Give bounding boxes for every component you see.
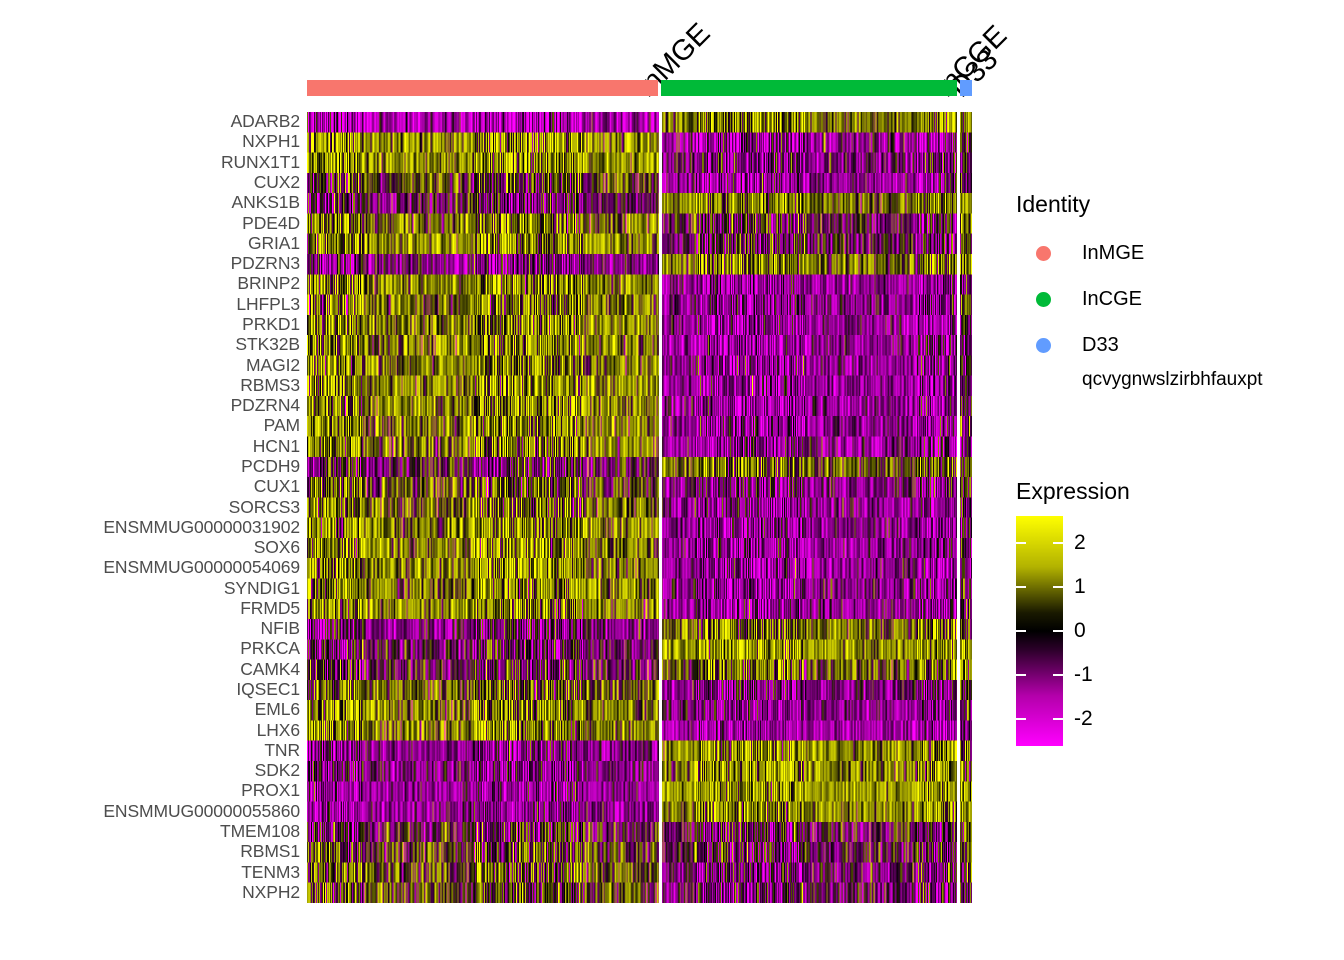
identity-legend-label: InCGE (1082, 289, 1142, 309)
gene-row-label: TENM3 (0, 864, 300, 882)
gene-row-label: NXPH2 (0, 884, 300, 902)
identity-block-incge (661, 80, 957, 96)
gene-row-label: SORCS3 (0, 499, 300, 517)
gene-row-label: LHX6 (0, 722, 300, 740)
gene-row-label: STK32B (0, 336, 300, 354)
colorbar-tick-label: 0 (1074, 620, 1086, 641)
identity-legend-item[interactable]: InMGE (1016, 230, 1263, 276)
gene-row-label: BRINP2 (0, 275, 300, 293)
colorbar-tick-mark (1016, 542, 1026, 544)
gene-row-label: TMEM108 (0, 823, 300, 841)
identity-legend-label: InMGE (1082, 243, 1144, 263)
colorbar-tick-mark (1053, 674, 1063, 676)
gene-row-label: NFIB (0, 620, 300, 638)
gene-row-label: LHFPL3 (0, 296, 300, 314)
gene-row-label: ENSMMUG00000054069 (0, 559, 300, 577)
gene-row-label: TNR (0, 742, 300, 760)
identity-legend-item[interactable]: D33 (1016, 322, 1263, 368)
gene-row-label: ADARB2 (0, 113, 300, 131)
gene-row-label: FRMD5 (0, 600, 300, 618)
group-separator (659, 112, 662, 903)
gene-row-labels: ADARB2NXPH1RUNX1T1CUX2ANKS1BPDE4DGRIA1PD… (0, 112, 300, 903)
gene-row-label: IQSEC1 (0, 681, 300, 699)
expression-colorbar-wrap: 210-1-2 (1016, 516, 1176, 748)
gene-row-label: PCDH9 (0, 458, 300, 476)
colorbar-tick-mark (1016, 718, 1026, 720)
heatmap-panel (307, 112, 972, 903)
gene-row-label: PDE4D (0, 215, 300, 233)
gene-row-label: GRIA1 (0, 235, 300, 253)
gene-row-label: ENSMMUG00000031902 (0, 519, 300, 537)
colorbar-tick-label: 2 (1074, 532, 1086, 553)
colorbar-tick-label: -1 (1074, 664, 1093, 685)
gene-row-label: CUX1 (0, 478, 300, 496)
gene-row-label: NXPH1 (0, 133, 300, 151)
gene-row-label: CAMK4 (0, 661, 300, 679)
gene-row-label: MAGI2 (0, 357, 300, 375)
expression-legend: Expression 210-1-2 (1016, 480, 1176, 748)
gene-row-label: ENSMMUG00000055860 (0, 803, 300, 821)
gene-row-label: PAM (0, 417, 300, 435)
gene-row-label: CUX2 (0, 174, 300, 192)
identity-annotation-bar (0, 80, 1344, 96)
identity-legend-items: InMGEInCGED33 (1016, 230, 1263, 368)
gene-row-label: SDK2 (0, 762, 300, 780)
gene-row-label: PRKD1 (0, 316, 300, 334)
identity-legend-title: Identity (1016, 193, 1263, 216)
colorbar-tick-mark (1016, 586, 1026, 588)
gene-row-label: PRKCA (0, 640, 300, 658)
group-separator (957, 112, 960, 903)
expression-legend-title: Expression (1016, 480, 1176, 503)
gene-row-label: ANKS1B (0, 194, 300, 212)
identity-legend-dot-icon (1036, 246, 1051, 261)
gene-row-label: RBMS3 (0, 377, 300, 395)
gene-row-label: PDZRN4 (0, 397, 300, 415)
identity-block-d33 (960, 80, 972, 96)
heatmap-figure: InMGEInCGED33 ADARB2NXPH1RUNX1T1CUX2ANKS… (0, 0, 1344, 960)
heatmap-canvas (307, 112, 972, 903)
gene-row-label: RBMS1 (0, 843, 300, 861)
colorbar-tick-mark (1053, 630, 1063, 632)
colorbar-tick-mark (1053, 718, 1063, 720)
identity-legend-dot-icon (1036, 338, 1051, 353)
identity-legend-label: D33 (1082, 335, 1119, 355)
colorbar-tick-mark (1016, 630, 1026, 632)
gene-row-label: PDZRN3 (0, 255, 300, 273)
identity-legend: Identity InMGEInCGED33 qcvygnwslzirbhfau… (1016, 193, 1263, 389)
identity-block-inmge (307, 80, 658, 96)
gene-row-label: PROX1 (0, 782, 300, 800)
identity-legend-extra-text: qcvygnwslzirbhfauxpt (1082, 370, 1263, 389)
gene-row-label: HCN1 (0, 438, 300, 456)
gene-row-label: RUNX1T1 (0, 154, 300, 172)
colorbar-tick-label: -2 (1074, 708, 1093, 729)
gene-row-label: SOX6 (0, 539, 300, 557)
colorbar-tick-label: 1 (1074, 576, 1086, 597)
gene-row-label: SYNDIG1 (0, 580, 300, 598)
colorbar-tick-mark (1053, 542, 1063, 544)
colorbar-tick-mark (1016, 674, 1026, 676)
identity-legend-item[interactable]: InCGE (1016, 276, 1263, 322)
identity-legend-dot-icon (1036, 292, 1051, 307)
colorbar-tick-mark (1053, 586, 1063, 588)
gene-row-label: EML6 (0, 701, 300, 719)
